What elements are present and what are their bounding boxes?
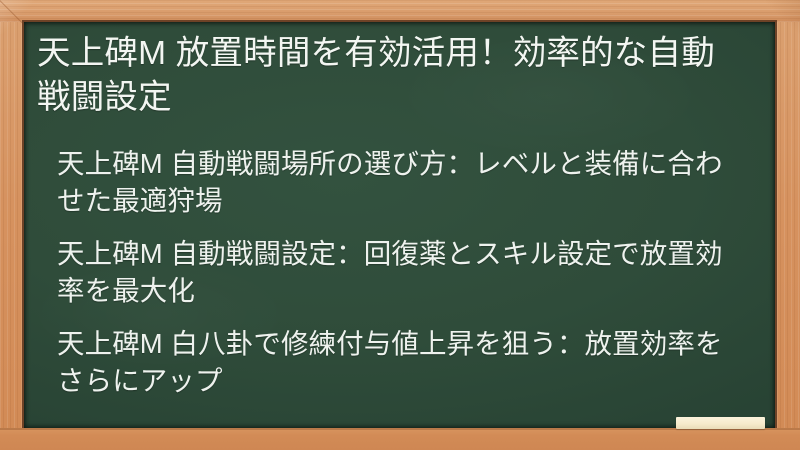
list-item[interactable]: 天上碑M 自動戦闘場所の選び方：レベルと装備に合わせた最適狩場 <box>57 145 729 219</box>
page-title: 天上碑M 放置時間を有効活用！効率的な自動戦闘設定 <box>37 32 737 120</box>
list-item[interactable]: 天上碑M 白八卦で修練付与値上昇を狙う：放置効率をさらにアップ <box>57 325 729 399</box>
chalkboard-slide: 天上碑M 放置時間を有効活用！効率的な自動戦闘設定 天上碑M 自動戦闘場所の選び… <box>0 0 800 450</box>
board-content: 天上碑M 放置時間を有効活用！効率的な自動戦闘設定 天上碑M 自動戦闘場所の選び… <box>24 22 775 428</box>
list-item[interactable]: 天上碑M 自動戦闘設定：回復薬とスキル設定で放置効率を最大化 <box>57 235 729 309</box>
frame-top-rail <box>0 0 800 22</box>
chalk-ledge <box>0 428 800 450</box>
article-list: 天上碑M 自動戦闘場所の選び方：レベルと装備に合わせた最適狩場 天上碑M 自動戦… <box>37 145 749 399</box>
